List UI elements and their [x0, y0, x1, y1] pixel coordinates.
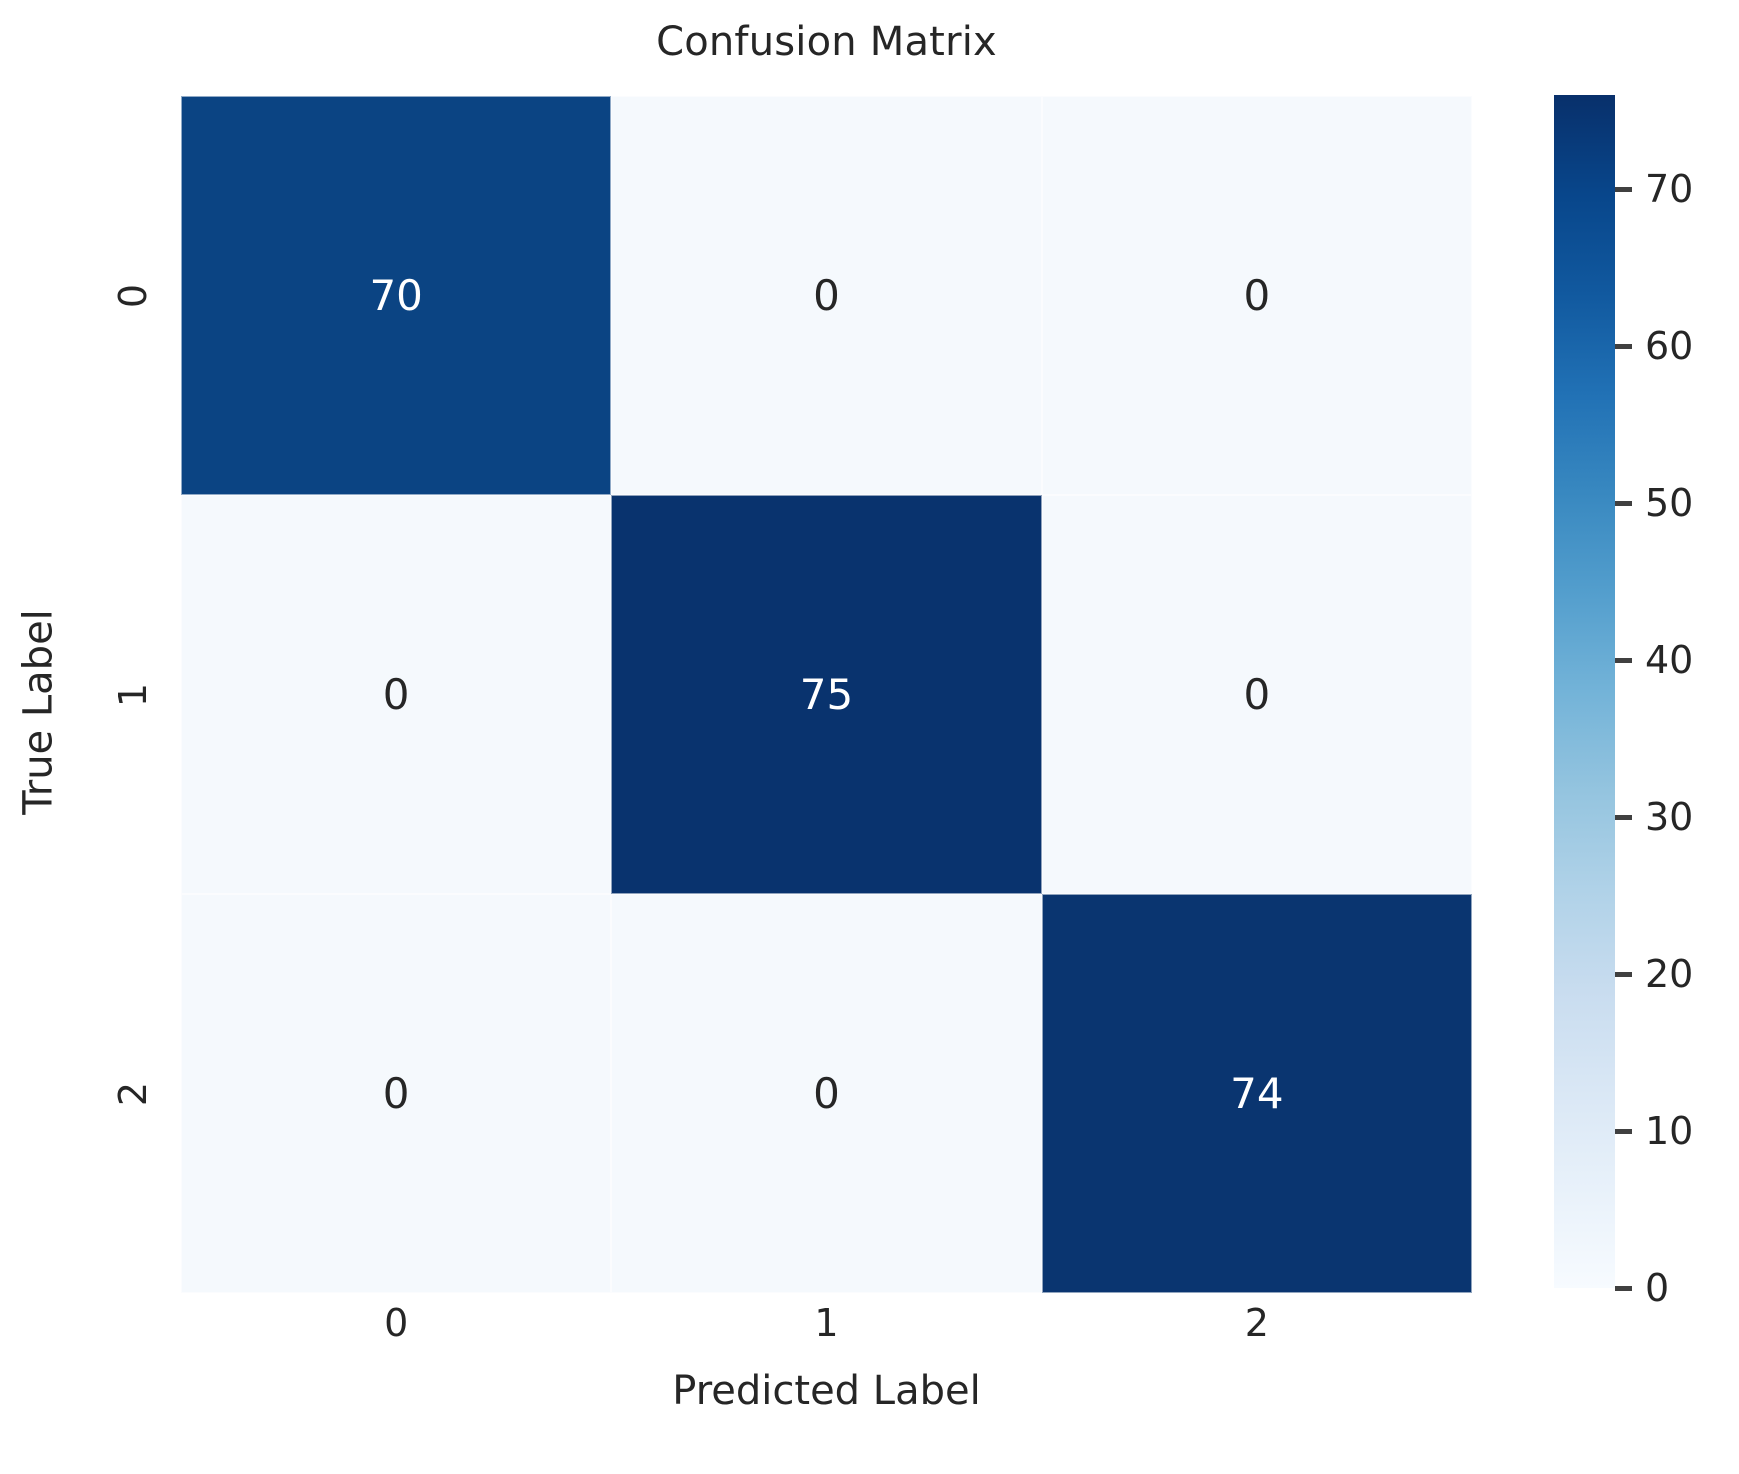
cell-value: 0	[383, 674, 410, 716]
y-axis-title: True Label	[16, 114, 62, 1311]
colorbar-tick-mark-icon	[1615, 187, 1632, 192]
heatmap-grid: 70 0 0 0 75 0 0 0 74	[181, 96, 1472, 1293]
page-title: Confusion Matrix	[181, 18, 1472, 66]
y-tick-label-0: 0	[111, 283, 155, 307]
cell-value: 0	[383, 1073, 410, 1115]
colorbar[interactable]: 706050403020100	[1554, 95, 1615, 1288]
cell-value: 75	[800, 674, 853, 716]
y-axis-tick-labels: 0 1 2	[108, 96, 158, 1293]
x-axis-title: Predicted Label	[181, 1368, 1472, 1414]
colorbar-tick-mark-icon	[1615, 1129, 1632, 1134]
cell-value: 70	[369, 275, 422, 317]
colorbar-tick-mark-icon	[1615, 501, 1632, 506]
colorbar-gradient	[1554, 95, 1615, 1288]
heatmap-cell-r2c0[interactable]: 0	[181, 894, 611, 1293]
heatmap-cell-r2c2[interactable]: 74	[1042, 894, 1472, 1293]
x-tick-label-2: 2	[1042, 1301, 1472, 1359]
confusion-matrix-figure: Confusion Matrix True Label 0 1 2 70 0 0…	[0, 0, 1739, 1474]
cell-value: 0	[813, 275, 840, 317]
cell-value: 74	[1230, 1073, 1283, 1115]
y-tick-label-1: 1	[111, 682, 155, 706]
x-axis-tick-labels: 0 1 2	[181, 1301, 1472, 1359]
heatmap-cell-r1c2[interactable]: 0	[1042, 495, 1472, 894]
colorbar-tick-mark-icon	[1615, 344, 1632, 349]
heatmap-cell-r0c2[interactable]: 0	[1042, 96, 1472, 495]
x-tick-label-0: 0	[181, 1301, 611, 1359]
cell-value: 0	[813, 1073, 840, 1115]
heatmap-cell-r0c0[interactable]: 70	[181, 96, 611, 495]
heatmap-cell-r1c0[interactable]: 0	[181, 495, 611, 894]
heatmap-cell-r0c1[interactable]: 0	[611, 96, 1041, 495]
y-tick-1: 1	[108, 495, 158, 894]
cell-value: 0	[1243, 674, 1270, 716]
colorbar-tick-mark-icon	[1615, 658, 1632, 663]
y-tick-2: 2	[108, 894, 158, 1293]
y-tick-0: 0	[108, 96, 158, 495]
colorbar-tick-mark-icon	[1615, 815, 1632, 820]
x-tick-label-1: 1	[611, 1301, 1041, 1359]
heatmap-cell-r1c1[interactable]: 75	[611, 495, 1041, 894]
cell-value: 0	[1243, 275, 1270, 317]
heatmap-cell-r2c1[interactable]: 0	[611, 894, 1041, 1293]
colorbar-tick-mark-icon	[1615, 1286, 1632, 1291]
y-tick-label-2: 2	[111, 1081, 155, 1105]
colorbar-tick-mark-icon	[1615, 972, 1632, 977]
